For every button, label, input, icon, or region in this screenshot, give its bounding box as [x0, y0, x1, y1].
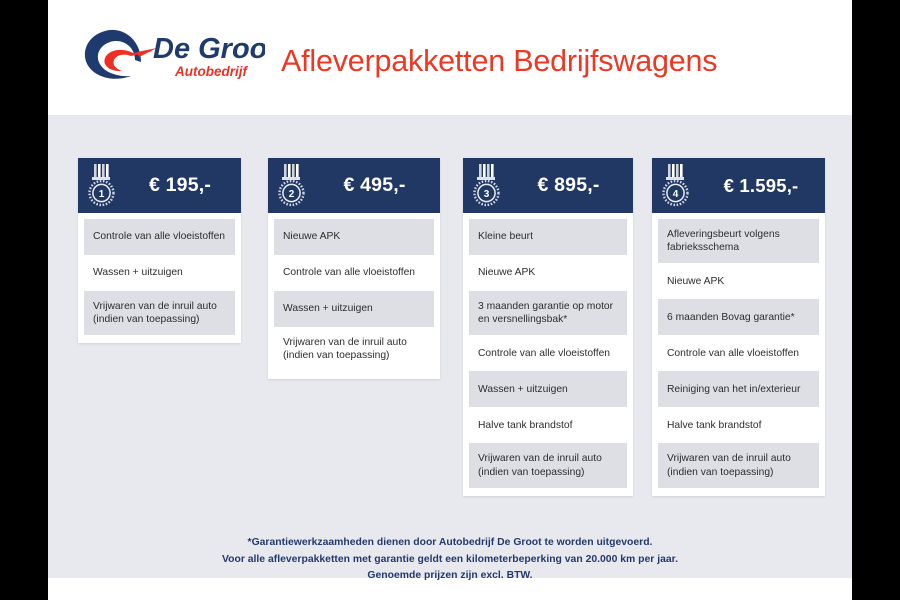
medal-number-1: 1 — [99, 189, 105, 200]
package-card-2-header: 2 € 495,- — [268, 158, 440, 213]
package-1-item-2: Wassen + uitzuigen — [84, 255, 235, 291]
footnote-line-1: *Garantiewerkzaamheden dienen door Autob… — [48, 535, 852, 552]
package-card-4-header: 4 € 1.595,- — [652, 158, 825, 213]
package-4-price: € 1.595,- — [697, 175, 825, 197]
medal-number-4: 4 — [673, 189, 679, 200]
package-3-item-6: Halve tank brandstof — [469, 407, 627, 443]
package-3-price: € 895,- — [508, 174, 633, 197]
item-text: Wassen + uitzuigen — [283, 302, 373, 315]
package-3-item-3: 3 maanden garantie op motoren versnellin… — [469, 291, 627, 335]
item-text: Controle van alle vloeistoffen — [667, 347, 799, 360]
medal-number-2: 2 — [289, 189, 295, 200]
flyer-sheet: De Groot Autobedrijf Afleverpakketten Be… — [48, 0, 852, 600]
item-text: Reiniging van het in/exterieur — [667, 383, 800, 396]
package-1-item-1: Controle van alle vloeistoffen — [84, 219, 235, 255]
item-text: 3 maanden garantie op motoren versnellin… — [478, 300, 613, 326]
medal-rank-3-icon: 3 — [471, 164, 502, 208]
svg-text:De Groot: De Groot — [153, 33, 265, 65]
package-card-3[interactable]: 3 € 895,- Kleine beurt Nieuwe APK 3 maan… — [463, 158, 633, 496]
package-2-item-3: Wassen + uitzuigen — [274, 291, 434, 327]
package-3-item-7: Vrijwaren van de inruil auto(indien van … — [469, 443, 627, 487]
package-2-item-1: Nieuwe APK — [274, 219, 434, 255]
package-4-items: Afleveringsbeurt volgensfabrieksschema N… — [652, 213, 825, 496]
svg-text:Autobedrijf: Autobedrijf — [174, 64, 248, 79]
de-groot-logo: De Groot Autobedrijf — [75, 22, 265, 90]
page-header: De Groot Autobedrijf Afleverpakketten Be… — [48, 0, 852, 115]
item-text: 6 maanden Bovag garantie* — [667, 311, 795, 324]
item-text: Nieuwe APK — [667, 275, 724, 288]
screenshot-canvas: De Groot Autobedrijf Afleverpakketten Be… — [0, 0, 900, 600]
package-2-items: Nieuwe APK Controle van alle vloeistoffe… — [268, 213, 440, 379]
medal-rank-4-icon: 4 — [660, 164, 691, 208]
item-text: Wassen + uitzuigen — [478, 383, 568, 396]
package-4-item-6: Halve tank brandstof — [658, 407, 819, 443]
item-text: Wassen + uitzuigen — [93, 266, 183, 279]
item-text: Afleveringsbeurt volgensfabrieksschema — [667, 228, 780, 254]
package-3-item-1: Kleine beurt — [469, 219, 627, 255]
item-text: Controle van alle vloeistoffen — [283, 266, 415, 279]
footnote-line-3: Genoemde prijzen zijn excl. BTW. — [48, 568, 852, 585]
item-text: Vrijwaren van de inruil auto(indien van … — [283, 336, 407, 362]
package-3-item-2: Nieuwe APK — [469, 255, 627, 291]
medal-rank-1-icon: 1 — [86, 164, 117, 208]
package-3-items: Kleine beurt Nieuwe APK 3 maanden garant… — [463, 213, 633, 496]
package-card-3-header: 3 € 895,- — [463, 158, 633, 213]
footnote-line-2: Voor alle afleverpakketten met garantie … — [48, 552, 852, 569]
footnotes: *Garantiewerkzaamheden dienen door Autob… — [48, 535, 852, 585]
package-4-item-2: Nieuwe APK — [658, 263, 819, 299]
item-text: Controle van alle vloeistoffen — [93, 230, 225, 243]
package-2-price: € 495,- — [313, 174, 440, 197]
package-card-1[interactable]: 1 € 195,- Controle van alle vloeistoffen… — [78, 158, 241, 343]
page-title: Afleverpakketten Bedrijfswagens — [281, 44, 717, 79]
package-4-item-7: Vrijwaren van de inruil auto(indien van … — [658, 443, 819, 487]
item-text: Nieuwe APK — [478, 266, 535, 279]
package-3-item-5: Wassen + uitzuigen — [469, 371, 627, 407]
item-text: Vrijwaren van de inruil auto(indien van … — [667, 452, 791, 478]
package-4-item-1: Afleveringsbeurt volgensfabrieksschema — [658, 219, 819, 263]
item-text: Vrijwaren van de inruil auto(indien van … — [478, 452, 602, 478]
medal-rank-2-icon: 2 — [276, 164, 307, 208]
packages-area: 1 € 195,- Controle van alle vloeistoffen… — [48, 115, 852, 578]
package-1-price: € 195,- — [123, 174, 241, 197]
package-1-items: Controle van alle vloeistoffen Wassen + … — [78, 213, 241, 343]
item-text: Kleine beurt — [478, 230, 533, 243]
item-text: Halve tank brandstof — [478, 419, 572, 432]
package-2-item-4: Vrijwaren van de inruil auto(indien van … — [274, 327, 434, 371]
item-text: Nieuwe APK — [283, 230, 340, 243]
package-card-4[interactable]: 4 € 1.595,- Afleveringsbeurt volgensfabr… — [652, 158, 825, 496]
package-1-item-3: Vrijwaren van de inruil auto(indien van … — [84, 291, 235, 335]
package-4-item-3: 6 maanden Bovag garantie* — [658, 299, 819, 335]
item-text: Vrijwaren van de inruil auto(indien van … — [93, 300, 217, 326]
medal-number-3: 3 — [484, 189, 490, 200]
package-2-item-2: Controle van alle vloeistoffen — [274, 255, 434, 291]
item-text: Controle van alle vloeistoffen — [478, 347, 610, 360]
package-card-2[interactable]: 2 € 495,- Nieuwe APK Controle van alle v… — [268, 158, 440, 379]
package-3-item-4: Controle van alle vloeistoffen — [469, 335, 627, 371]
item-text: Halve tank brandstof — [667, 419, 761, 432]
package-4-item-4: Controle van alle vloeistoffen — [658, 335, 819, 371]
de-groot-logo-mark: De Groot Autobedrijf — [75, 22, 265, 90]
package-card-1-header: 1 € 195,- — [78, 158, 241, 213]
package-4-item-5: Reiniging van het in/exterieur — [658, 371, 819, 407]
